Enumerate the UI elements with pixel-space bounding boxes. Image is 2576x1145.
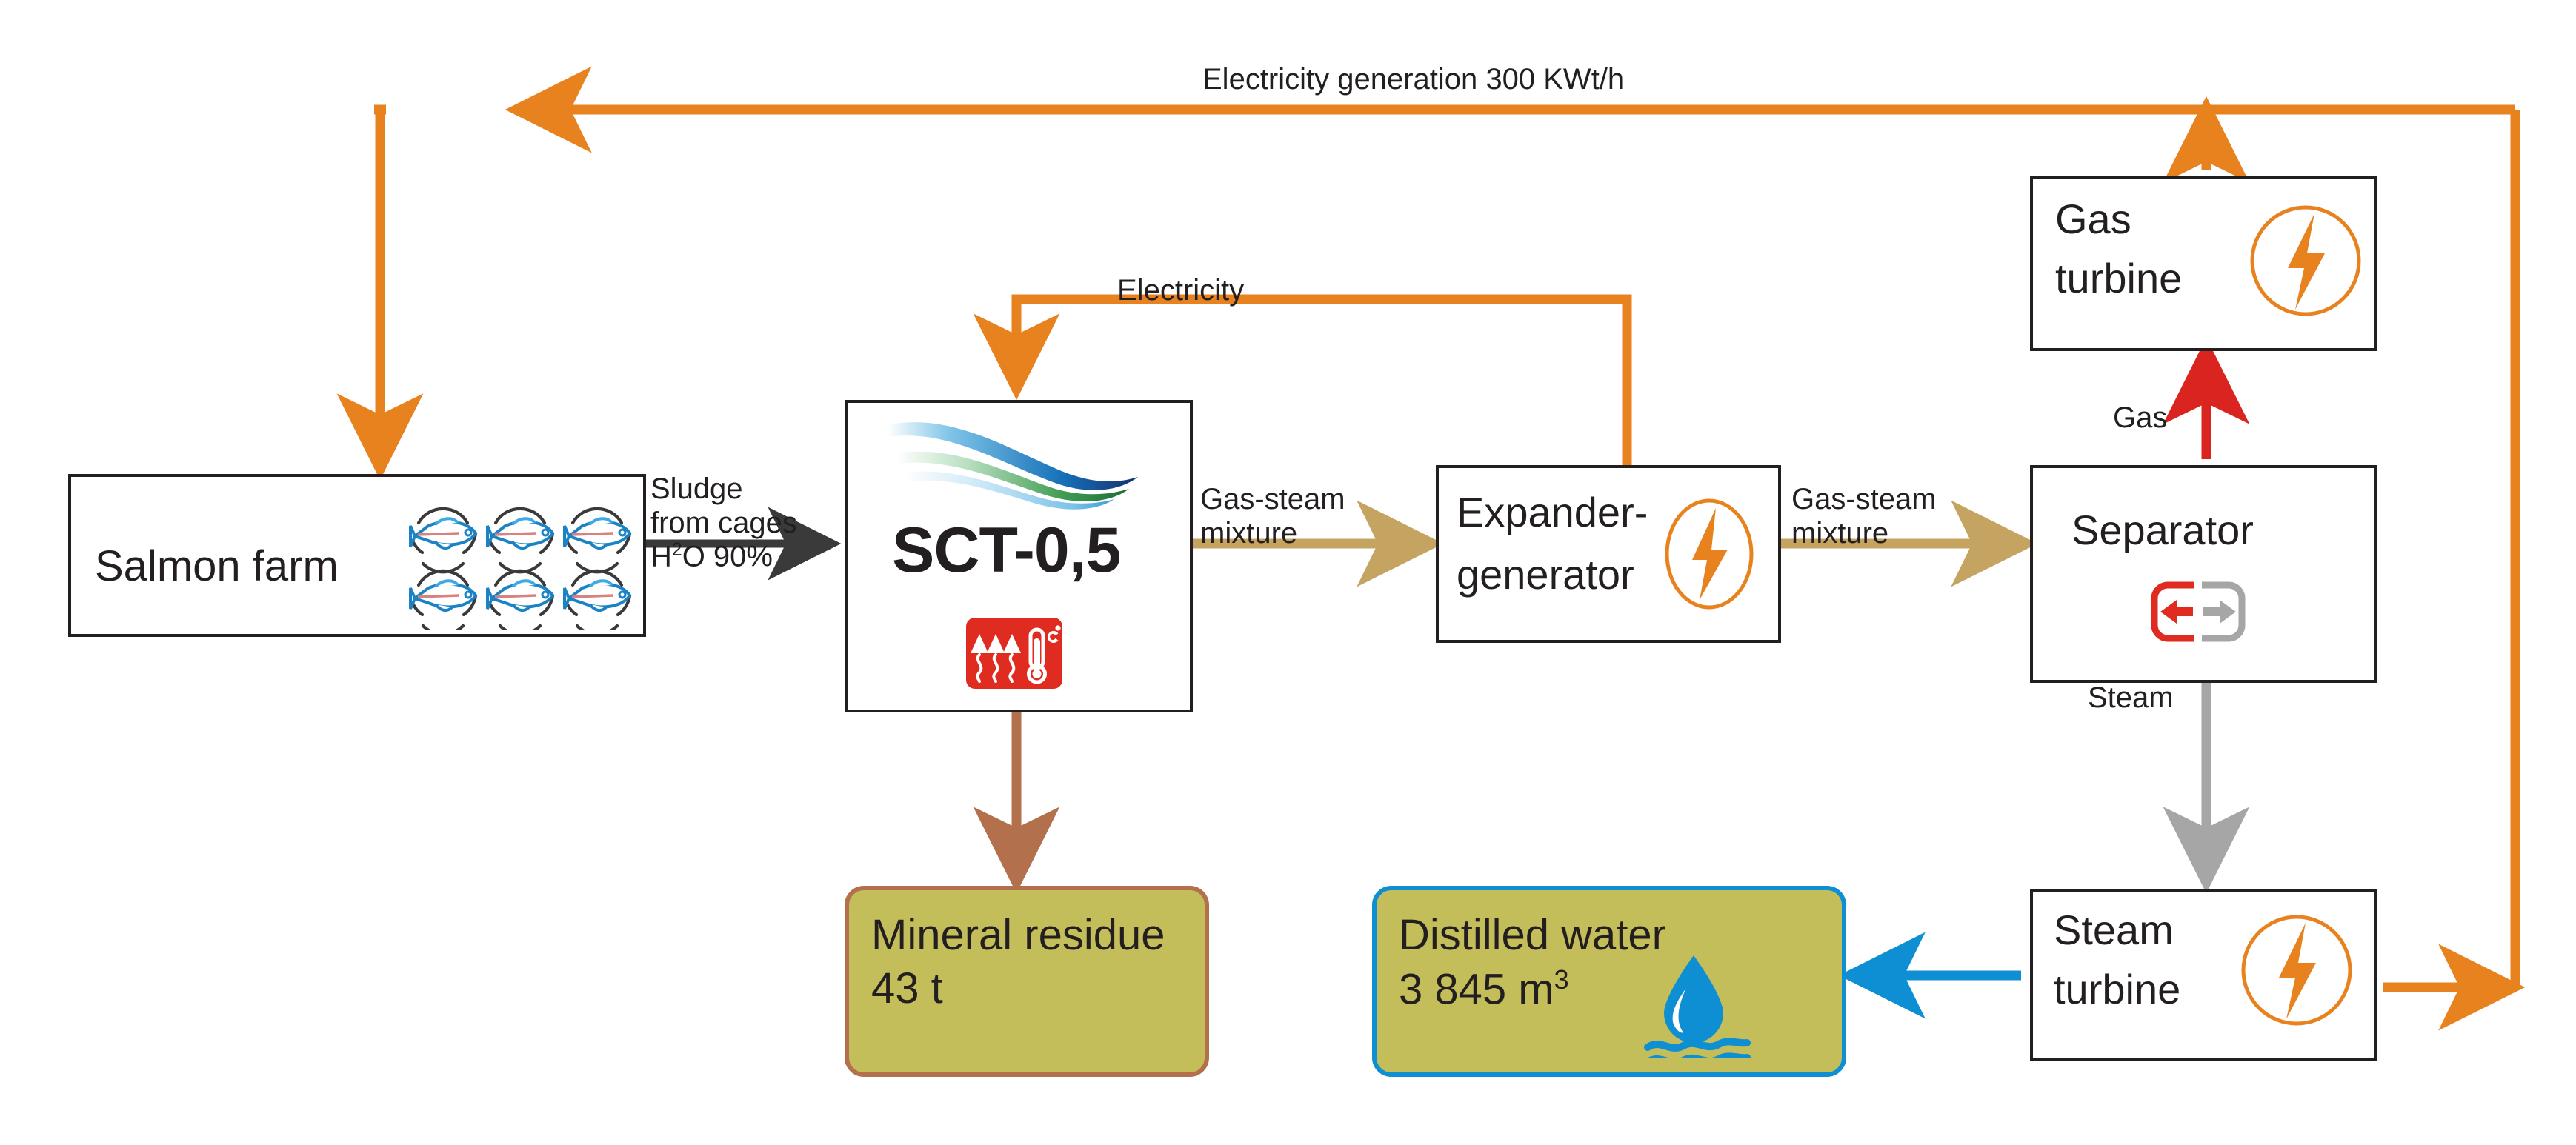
- gas-turbine-label-line1: Gas: [2055, 196, 2131, 243]
- label-sludge-line3: H2O 90%: [650, 540, 797, 574]
- label-sludge-h: H: [650, 541, 672, 573]
- distilled-water-amount: 3 845 m3: [1399, 964, 1569, 1014]
- separator-inout-arrows-icon: [2150, 581, 2246, 643]
- label-gas-steam-1-line1: Gas-steam: [1200, 483, 1345, 517]
- label-steam: Steam: [2088, 681, 2174, 715]
- node-sct[interactable]: SCT-0,5: [845, 400, 1193, 712]
- mineral-residue-amount: 43 t: [871, 964, 943, 1013]
- salmon-farm-label: Salmon farm: [95, 542, 339, 591]
- distilled-water-exponent: 3: [1554, 964, 1569, 995]
- water-drop-waves-icon: [1637, 939, 1756, 1058]
- steam-turbine-label-line2: turbine: [2054, 966, 2180, 1013]
- label-gas-steam-1: Gas-steam mixture: [1200, 483, 1345, 550]
- expander-label-line1: Expander-: [1457, 489, 1648, 536]
- sct-label: SCT-0,5: [892, 514, 1120, 587]
- distilled-water-value: 3 845 m: [1399, 965, 1554, 1013]
- expander-label-line2: generator: [1457, 551, 1634, 598]
- label-gas-steam-1-line2: mixture: [1200, 517, 1345, 551]
- label-sludge: Sludge from cages H2O 90%: [650, 473, 797, 574]
- label-gas-steam-2-line1: Gas-steam: [1791, 483, 1937, 517]
- label-sludge-line1: Sludge: [650, 473, 797, 507]
- fish-cages-icon: [405, 487, 642, 630]
- label-gas-steam-2: Gas-steam mixture: [1791, 483, 1937, 550]
- label-gas-steam-2-line2: mixture: [1791, 517, 1937, 551]
- distilled-water-label: Distilled water: [1399, 911, 1666, 960]
- node-expander-generator[interactable]: Expander- generator: [1436, 465, 1781, 643]
- label-sludge-rest: O 90%: [682, 541, 773, 573]
- label-electricity-generation: Electricity generation 300 KWt/h: [1202, 63, 1624, 97]
- node-salmon-farm[interactable]: Salmon farm: [68, 474, 646, 637]
- node-distilled-water[interactable]: Distilled water 3 845 m3: [1372, 886, 1846, 1077]
- mineral-residue-label: Mineral residue: [871, 911, 1165, 960]
- node-mineral-residue[interactable]: Mineral residue 43 t: [845, 886, 1209, 1077]
- node-separator[interactable]: Separator: [2030, 465, 2377, 683]
- label-sludge-line2: from cages: [650, 507, 797, 541]
- node-steam-turbine[interactable]: Steam turbine: [2030, 889, 2377, 1061]
- gas-turbine-label-line2: turbine: [2055, 255, 2182, 302]
- label-sludge-subscript: 2: [672, 540, 682, 560]
- steam-turbine-label-line1: Steam: [2054, 907, 2174, 954]
- process-flow-diagram: Electricity generation 300 KWt/h Sludge …: [0, 0, 2576, 1145]
- swoosh-logo: [883, 415, 1165, 511]
- separator-label: Separator: [2071, 507, 2254, 554]
- lightning-circle-icon: [2237, 911, 2356, 1029]
- label-gas: Gas: [2113, 401, 2167, 435]
- lightning-circle-icon: [2246, 201, 2365, 320]
- label-electricity: Electricity: [1117, 274, 1244, 308]
- heat-thermometer-icon: [966, 618, 1062, 689]
- lightning-circle-icon: [1661, 495, 1757, 613]
- node-gas-turbine[interactable]: Gas turbine: [2030, 176, 2377, 351]
